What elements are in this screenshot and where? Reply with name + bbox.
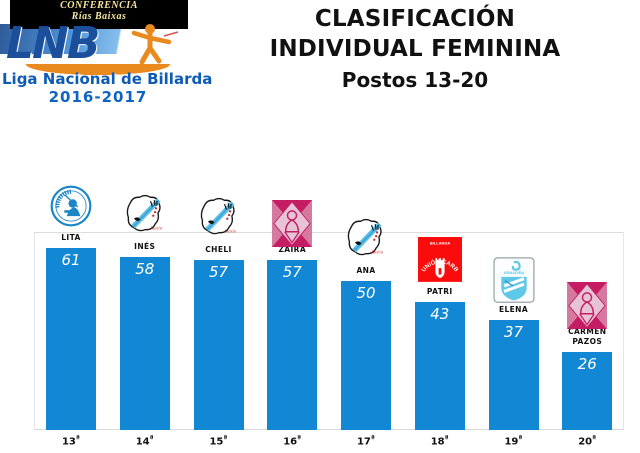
bar-value-label: 43 [415, 305, 465, 323]
title-line-2: INDIVIDUAL FEMININA [200, 34, 630, 65]
crimson-diamond-crest-logo [272, 200, 312, 252]
player-name-label: ANA [323, 266, 409, 276]
x-axis-tick-label: 18ª [403, 434, 477, 447]
bar[interactable]: 58 [120, 257, 170, 430]
bar[interactable]: 26 [562, 352, 612, 430]
logo-season: 2016-2017 [2, 88, 194, 106]
bar[interactable]: 37 [489, 320, 539, 430]
x-axis-tick-label: 13ª [34, 434, 108, 447]
bar-value-label: 57 [194, 263, 244, 281]
bar[interactable]: 61 [46, 248, 96, 430]
club-circular-blue-logo [50, 185, 92, 232]
bar[interactable]: 57 [267, 260, 317, 430]
armadina-lightblue-shield-logo: ARMADIÑA [493, 257, 535, 308]
bar-value-label: 58 [120, 260, 170, 278]
billarda-player-icon [120, 22, 180, 67]
svg-text:BILLARDA: BILLARDA [429, 241, 450, 246]
bar-column[interactable]: 57 [255, 232, 329, 430]
galicia-map-blue-sash-logo: Marín [196, 193, 242, 244]
player-name-label: PATRI [397, 287, 483, 297]
svg-text:ARMADIÑA: ARMADIÑA [503, 271, 524, 276]
x-axis-tick-label: 19ª [477, 434, 551, 447]
bar-column[interactable]: 58 [108, 232, 182, 430]
bar-value-label: 37 [489, 323, 539, 341]
crimson-diamond-crest-logo [567, 282, 607, 334]
page-title: CLASIFICACIÓN INDIVIDUAL FEMININA Postos… [200, 4, 630, 95]
logo-slogan: Liga Nacional de Billarda [2, 70, 194, 88]
title-line-1: CLASIFICACIÓN [200, 4, 630, 34]
slide-canvas: CONFERENCIA Rías Baixas LNB Liga Naciona… [0, 0, 640, 453]
union-carballedia-red-crest-logo: BILLARDA UNIÓN CARBALLEDIA [418, 237, 462, 287]
x-axis-tick-label: 14ª [108, 434, 182, 447]
svg-text:Marín: Marín [149, 226, 162, 231]
league-logo: CONFERENCIA Rías Baixas LNB Liga Naciona… [0, 0, 196, 112]
bar[interactable]: 50 [341, 281, 391, 430]
bar-value-label: 50 [341, 284, 391, 302]
x-axis-tick-label: 20ª [550, 434, 624, 447]
bar-column[interactable]: 61 [34, 232, 108, 430]
x-axis-tick-label: 17ª [329, 434, 403, 447]
bar-value-label: 26 [562, 355, 612, 373]
galicia-map-blue-sash-logo: Marín [122, 190, 168, 241]
title-line-3: Postos 13-20 [200, 65, 630, 95]
x-axis-tick-label: 15ª [182, 434, 256, 447]
svg-text:Marín: Marín [371, 250, 384, 255]
bar[interactable]: 43 [415, 302, 465, 430]
svg-text:Marín: Marín [223, 229, 236, 234]
bar[interactable]: 57 [194, 260, 244, 430]
bar-column[interactable]: 57 [182, 232, 256, 430]
x-axis-tick-label: 16ª [255, 434, 329, 447]
bar-value-label: 61 [46, 251, 96, 269]
logo-acronym: LNB [6, 22, 98, 66]
bar-value-label: 57 [267, 263, 317, 281]
galicia-map-blue-sash-logo: Marín [343, 214, 389, 265]
